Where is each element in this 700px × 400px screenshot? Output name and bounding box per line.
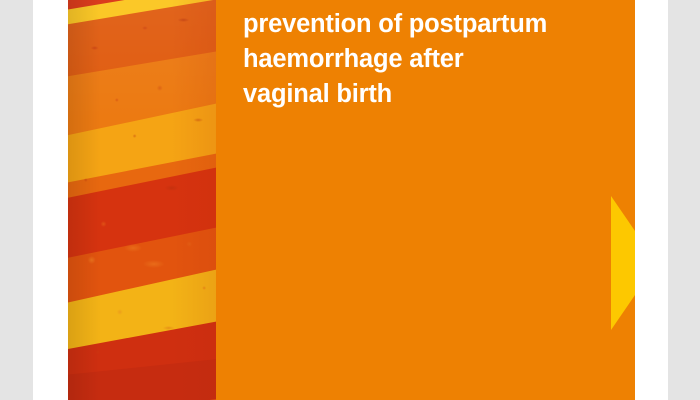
cover-title-line-3: haemorrhage after: [243, 42, 613, 77]
chevron-1-icon: [611, 196, 635, 330]
screenshot-canvas: administration for the prevention of pos…: [0, 0, 700, 400]
cover-title-line-2: prevention of postpartum: [243, 7, 613, 42]
cover-title-line-1: administration for the: [243, 0, 613, 7]
cover-title: administration for the prevention of pos…: [243, 0, 613, 112]
report-cover: administration for the prevention of pos…: [68, 0, 635, 400]
cover-title-line-4: vaginal birth: [243, 77, 613, 112]
cover-abstract-image: [68, 0, 216, 400]
image-shading-overlay: [68, 0, 216, 400]
cover-orange-panel: administration for the prevention of pos…: [216, 0, 635, 400]
chevron-group: [611, 196, 635, 330]
